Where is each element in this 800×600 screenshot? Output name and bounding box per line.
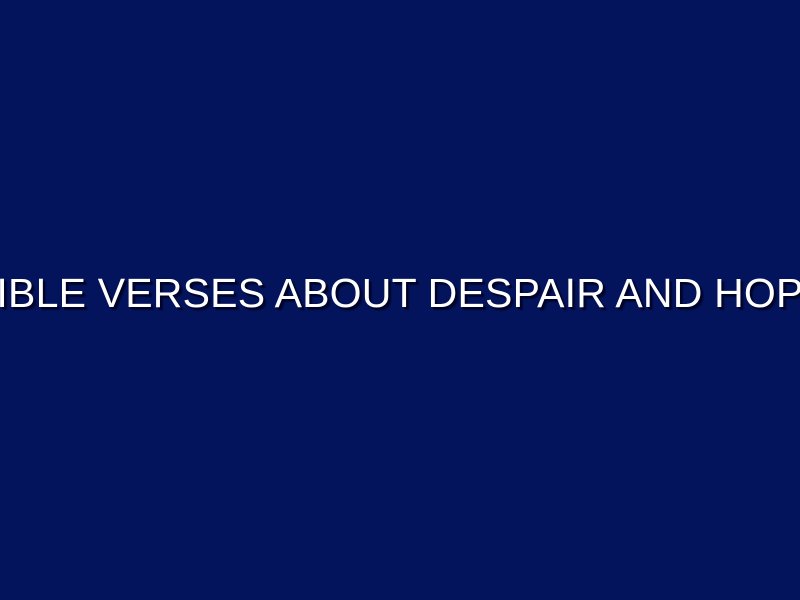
title-block: BIBLE VERSES ABOUT DESPAIR AND HOPE [0,271,800,317]
page-title: BIBLE VERSES ABOUT DESPAIR AND HOPE [0,271,800,317]
title-card-canvas: BIBLE VERSES ABOUT DESPAIR AND HOPE [0,0,800,600]
